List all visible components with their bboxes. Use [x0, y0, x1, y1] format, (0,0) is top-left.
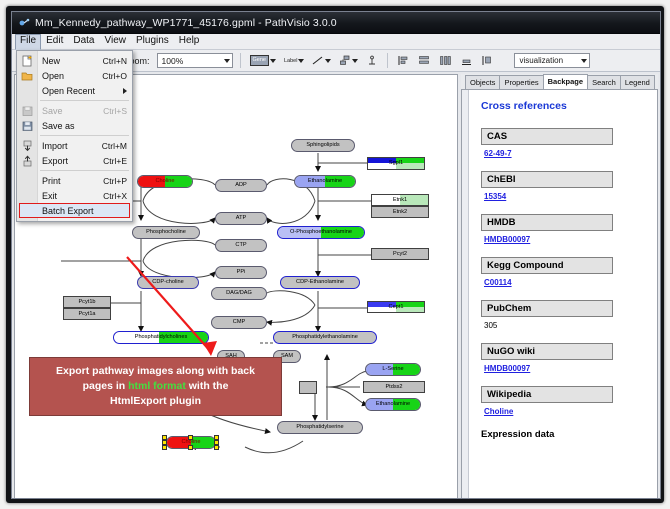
backpage-content[interactable]: Cross references CAS 62-49-7 ChEBI 15354… [461, 90, 658, 499]
annotation-callout: Export pathway images along with back pa… [29, 357, 282, 416]
import-icon [21, 140, 34, 152]
label-tool-button[interactable]: Label [282, 53, 306, 69]
line-tool-button[interactable] [310, 53, 333, 69]
callout-line1: Export pathway images along with back [56, 365, 255, 377]
node-cdp-ethanolamine[interactable]: CDP-Ethanolamine [280, 276, 360, 289]
zoom-value: 100% [162, 56, 184, 66]
xref-value-wikipedia: Choline [481, 407, 648, 416]
xref-value-cas: 62-49-7 [481, 149, 648, 158]
node-phosphatidylserine[interactable]: Phosphatidylserine [277, 421, 363, 434]
pathvisio-window: Mm_Kennedy_pathway_WP1771_45176.gpml - P… [11, 11, 661, 499]
menu-view[interactable]: View [99, 34, 131, 49]
visualization-value: visualization [519, 56, 563, 65]
xref-db-wikipedia: Wikipedia [481, 386, 613, 403]
node-phosphatidylcholines[interactable]: Phosphatidylcholines [113, 331, 209, 344]
xref-text-pubchem: 305 [484, 321, 497, 330]
node-o-phosphoethanolamine[interactable]: O-Phosphoethanolamine [277, 226, 365, 239]
xref-db-pubchem: PubChem [481, 300, 613, 317]
xref-db-cas: CAS [481, 128, 613, 145]
right-side-panel: Objects Properties Backpage Search Legen… [461, 74, 658, 499]
callout-highlight: html format [128, 380, 186, 392]
node-ethanolamine-lower[interactable]: Ethanolamine [365, 398, 421, 411]
file-menu-dropdown[interactable]: New Ctrl+N Open Ctrl+O Open Recent [16, 50, 133, 222]
xref-link-hmdb[interactable]: HMDB00097 [484, 235, 530, 244]
save-disk-icon [21, 105, 34, 117]
node-pcyt2[interactable]: Pcyt2 [371, 248, 429, 260]
xref-db-chebi: ChEBI [481, 171, 613, 188]
node-ppi[interactable]: PPi [215, 266, 267, 279]
xref-link-nugo[interactable]: HMDB00097 [484, 364, 530, 373]
menu-help[interactable]: Help [174, 34, 205, 49]
align-rows-button[interactable] [416, 53, 433, 69]
line-icon [312, 55, 324, 66]
xref-value-kegg: C00114 [481, 278, 648, 287]
align-columns-icon [439, 55, 452, 66]
node-adp[interactable]: ADP [215, 179, 267, 192]
window-title: Mm_Kennedy_pathway_WP1771_45176.gpml - P… [35, 17, 337, 29]
shape-tool-button[interactable] [337, 53, 360, 69]
stack-icon [460, 55, 473, 66]
gene-tool-button[interactable]: Gene [248, 53, 278, 69]
node-pcyt1a[interactable]: Pcyt1a [63, 308, 111, 320]
screenshot-root: Mm_Kennedy_pathway_WP1771_45176.gpml - P… [0, 0, 670, 509]
xref-db-hmdb: HMDB [481, 214, 613, 231]
xref-db-nugo: NuGO wiki [481, 343, 613, 360]
menu-separator [40, 135, 129, 136]
menu-item-import[interactable]: Import Ctrl+M [17, 138, 132, 153]
node-cmp[interactable]: CMP [211, 316, 267, 329]
tab-properties[interactable]: Properties [499, 75, 543, 89]
menu-separator [40, 170, 129, 171]
node-sgpl1[interactable]: Sgpl1 [367, 157, 425, 170]
chevron-down-icon [224, 59, 230, 63]
callout-line3: HtmlExport plugin [110, 395, 201, 407]
menu-item-batch-export[interactable]: Batch Export [19, 203, 130, 218]
menu-plugins[interactable]: Plugins [131, 34, 174, 49]
export-icon [21, 155, 34, 167]
zoom-combo[interactable]: 100% [157, 53, 233, 68]
node-ptdss2[interactable]: Ptdss2 [363, 381, 425, 393]
tab-legend[interactable]: Legend [620, 75, 655, 89]
menu-item-print[interactable]: Print Ctrl+P [17, 173, 132, 188]
chevron-down-icon [298, 59, 304, 63]
xref-link-chebi[interactable]: 15354 [484, 192, 506, 201]
tab-objects[interactable]: Objects [465, 75, 500, 89]
align-left-button[interactable] [395, 53, 412, 69]
align-rows-icon [418, 55, 431, 66]
xref-value-hmdb: HMDB00097 [481, 235, 648, 244]
node-ethanolamine-top[interactable]: Ethanolamine [294, 175, 356, 188]
node-sphingolipids[interactable]: Sphingolipids [291, 139, 355, 152]
anchor-icon [366, 55, 378, 67]
align-columns-button[interactable] [437, 53, 454, 69]
node-dag[interactable]: DAG/DAG [211, 287, 267, 300]
menu-file[interactable]: File [15, 34, 41, 50]
title-bar: Mm_Kennedy_pathway_WP1771_45176.gpml - P… [12, 12, 660, 34]
node-cdp-choline[interactable]: CDP-choline [137, 276, 199, 289]
tab-search[interactable]: Search [587, 75, 621, 89]
xref-db-kegg: Kegg Compound [481, 257, 613, 274]
node-ctp[interactable]: CTP [215, 239, 267, 252]
backpage-scroll-rail[interactable] [462, 90, 469, 499]
callout-line2b: with the [186, 380, 229, 392]
callout-line2a: pages in [83, 380, 129, 392]
menu-bar: File Edit Data View Plugins Help [12, 34, 660, 50]
menu-separator [40, 100, 129, 101]
resize-handle[interactable] [214, 445, 219, 450]
xref-value-pubchem: 305 [481, 321, 648, 330]
xref-value-nugo: HMDB00097 [481, 364, 648, 373]
expression-data-heading: Expression data [481, 429, 648, 440]
toolbar-separator [240, 53, 241, 68]
xref-link-wikipedia[interactable]: Choline [484, 407, 513, 416]
menu-data[interactable]: Data [68, 34, 99, 49]
node-etnk2[interactable]: Etnk2 [371, 206, 429, 218]
tab-backpage[interactable]: Backpage [543, 74, 588, 89]
node-phosphocholine[interactable]: Phosphocholine [132, 226, 200, 239]
menu-item-save-as[interactable]: Save as [17, 118, 132, 133]
side-panel-tabs: Objects Properties Backpage Search Legen… [461, 74, 658, 90]
node-choline-selected[interactable]: Choline [162, 435, 220, 450]
menu-edit[interactable]: Edit [41, 34, 68, 49]
pathvisio-icon [18, 17, 30, 29]
cross-references-title: Cross references [481, 100, 648, 112]
node-unlabeled-gene[interactable] [299, 381, 317, 394]
node-etnk1[interactable]: Etnk1 [371, 194, 429, 206]
open-folder-icon [21, 70, 34, 82]
node-cept1[interactable]: Cept1 [367, 301, 425, 313]
anchor-tool-button[interactable] [364, 53, 380, 69]
stack-button[interactable] [458, 53, 475, 69]
visualization-combo[interactable]: visualization [514, 53, 590, 68]
node-l-serine[interactable]: L-Serine [365, 363, 421, 376]
save-as-icon [21, 120, 34, 132]
align-left-icon [397, 55, 410, 66]
menu-item-open-recent[interactable]: Open Recent [17, 83, 132, 98]
menu-item-new[interactable]: New Ctrl+N [17, 53, 132, 68]
xref-link-cas[interactable]: 62-49-7 [484, 149, 512, 158]
new-file-icon [21, 55, 34, 67]
chevron-down-icon [352, 59, 358, 63]
menu-item-save[interactable]: Save Ctrl+S [17, 103, 132, 118]
chevron-down-icon [325, 59, 331, 63]
node-atp[interactable]: ATP [215, 212, 267, 225]
resize-handle[interactable] [162, 445, 167, 450]
xref-value-chebi: 15354 [481, 192, 648, 201]
chevron-down-icon [270, 59, 276, 63]
node-phosphatidylethanolamine[interactable]: Phosphatidylethanolamine [273, 331, 377, 344]
node-choline-top[interactable]: Choline [137, 175, 193, 188]
menu-item-export[interactable]: Export Ctrl+E [17, 153, 132, 168]
chevron-right-icon [123, 88, 127, 94]
chevron-down-icon [581, 59, 587, 63]
node-pcyt1b[interactable]: Pcyt1b [63, 296, 111, 308]
distribute-button[interactable] [479, 53, 496, 69]
xref-link-kegg[interactable]: C00114 [484, 278, 512, 287]
menu-item-open[interactable]: Open Ctrl+O [17, 68, 132, 83]
distribute-icon [481, 55, 494, 66]
shape-icon [339, 55, 351, 66]
toolbar-separator [387, 53, 388, 68]
menu-item-exit[interactable]: Exit Ctrl+X [17, 188, 132, 203]
